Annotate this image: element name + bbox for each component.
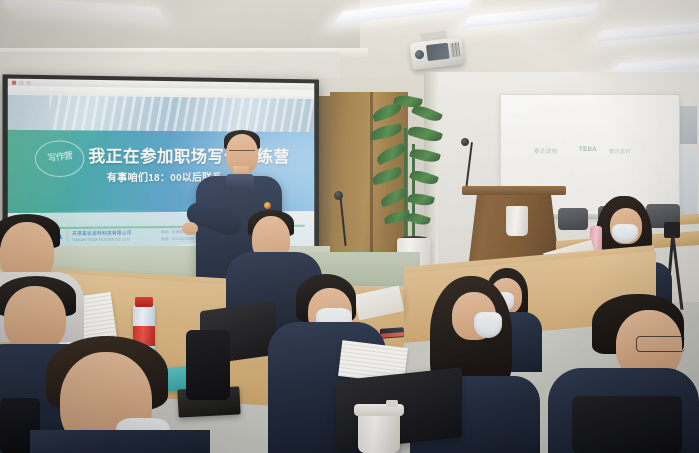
whiteboard-logo-center: TEDA <box>579 147 597 153</box>
potted-plant <box>370 92 446 242</box>
paper-cup <box>506 206 528 236</box>
glasses-icon <box>229 150 255 157</box>
podium-microphone-icon <box>461 138 469 146</box>
office-chair <box>186 330 230 400</box>
lapel-pin-icon <box>264 202 271 209</box>
window-pane <box>677 148 697 222</box>
whiteboard-logo-left: 泰达滤材 <box>534 147 558 155</box>
coffee-cup-tab <box>386 400 398 407</box>
desk-microphone-icon <box>334 191 343 200</box>
coffee-cup <box>358 412 400 453</box>
training-room-photo: 泰达滤材 TEDA 泰达滤材 写作营 我正在参加职场写作训练营 有事 <box>0 0 699 453</box>
office-chair <box>572 396 682 453</box>
presenter-collar <box>226 174 254 190</box>
window-pane <box>677 106 697 144</box>
attendee-head <box>4 286 66 352</box>
projector-grill <box>450 42 461 57</box>
whiteboard-logo-right: 泰达滤材 <box>609 148 631 155</box>
office-chair <box>558 208 588 230</box>
presenter-hand <box>182 222 198 235</box>
face-mask-icon <box>612 224 638 243</box>
glasses-icon <box>636 336 685 352</box>
bottle-cap <box>135 297 153 307</box>
lectern-top <box>462 186 566 195</box>
projector-lens <box>414 50 424 60</box>
attendee-torso <box>30 430 210 453</box>
face-mask-icon <box>474 312 502 338</box>
projector-vent <box>426 43 450 62</box>
